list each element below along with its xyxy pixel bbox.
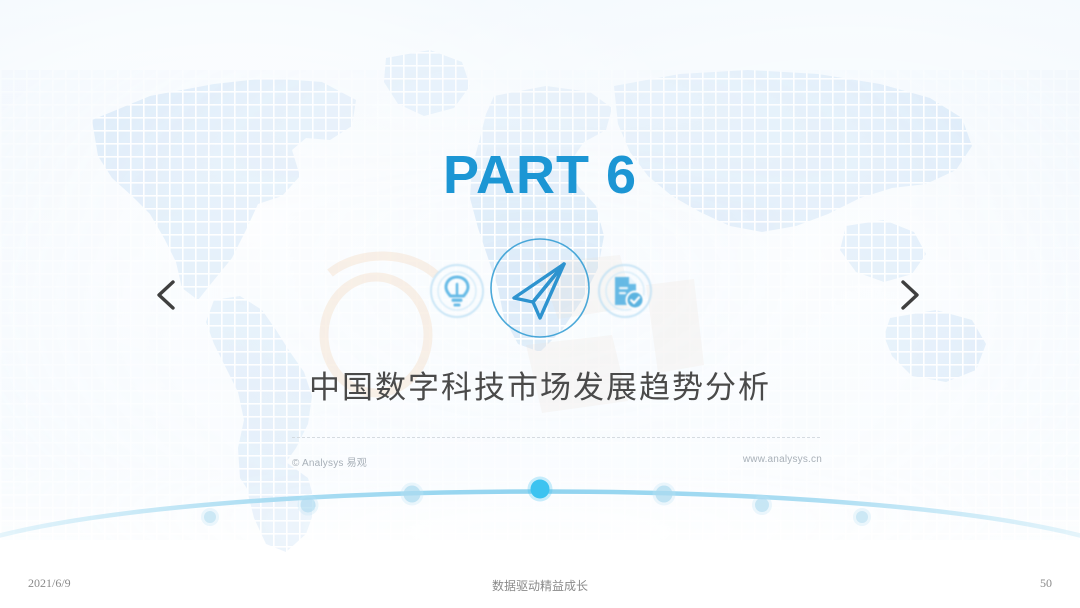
lightbulb-icon	[428, 262, 486, 320]
progress-dot-halo	[853, 508, 871, 526]
progress-dot[interactable]	[301, 498, 316, 513]
progress-dot-halo	[201, 508, 219, 526]
chevron-left-icon[interactable]	[146, 274, 188, 316]
page-title: PART 6	[0, 148, 1080, 202]
slide-canvas: PART 6	[0, 0, 1080, 608]
progress-dot-halo	[752, 495, 772, 515]
slide-footer: 2021/6/9 数据驱动精益成长 50	[0, 564, 1080, 608]
progress-dot-halo	[401, 483, 424, 506]
slide-subtitle: 中国数字科技市场发展趋势分析	[0, 370, 1080, 407]
progress-dot-halo	[653, 483, 676, 506]
document-check-icon	[596, 262, 654, 320]
progress-dot[interactable]	[656, 486, 673, 503]
progress-dot-halo	[528, 477, 553, 502]
footer-tagline: 数据驱动精益成长	[0, 577, 1080, 594]
progress-dot[interactable]	[856, 511, 868, 523]
progress-dot[interactable]	[204, 511, 216, 523]
copyright-credit: © Analysys 易观	[292, 454, 367, 469]
progress-dot[interactable]	[755, 498, 769, 512]
progress-dot-halo	[298, 495, 319, 516]
footer-page-number: 50	[1040, 576, 1052, 591]
website-url[interactable]: www.analysys.cn	[743, 454, 822, 465]
progress-dot[interactable]	[404, 486, 421, 503]
paper-plane-icon	[488, 236, 592, 340]
chevron-right-icon[interactable]	[888, 274, 930, 316]
progress-dot-active[interactable]	[531, 480, 550, 499]
divider	[292, 437, 820, 438]
progress-arc	[0, 455, 1080, 565]
